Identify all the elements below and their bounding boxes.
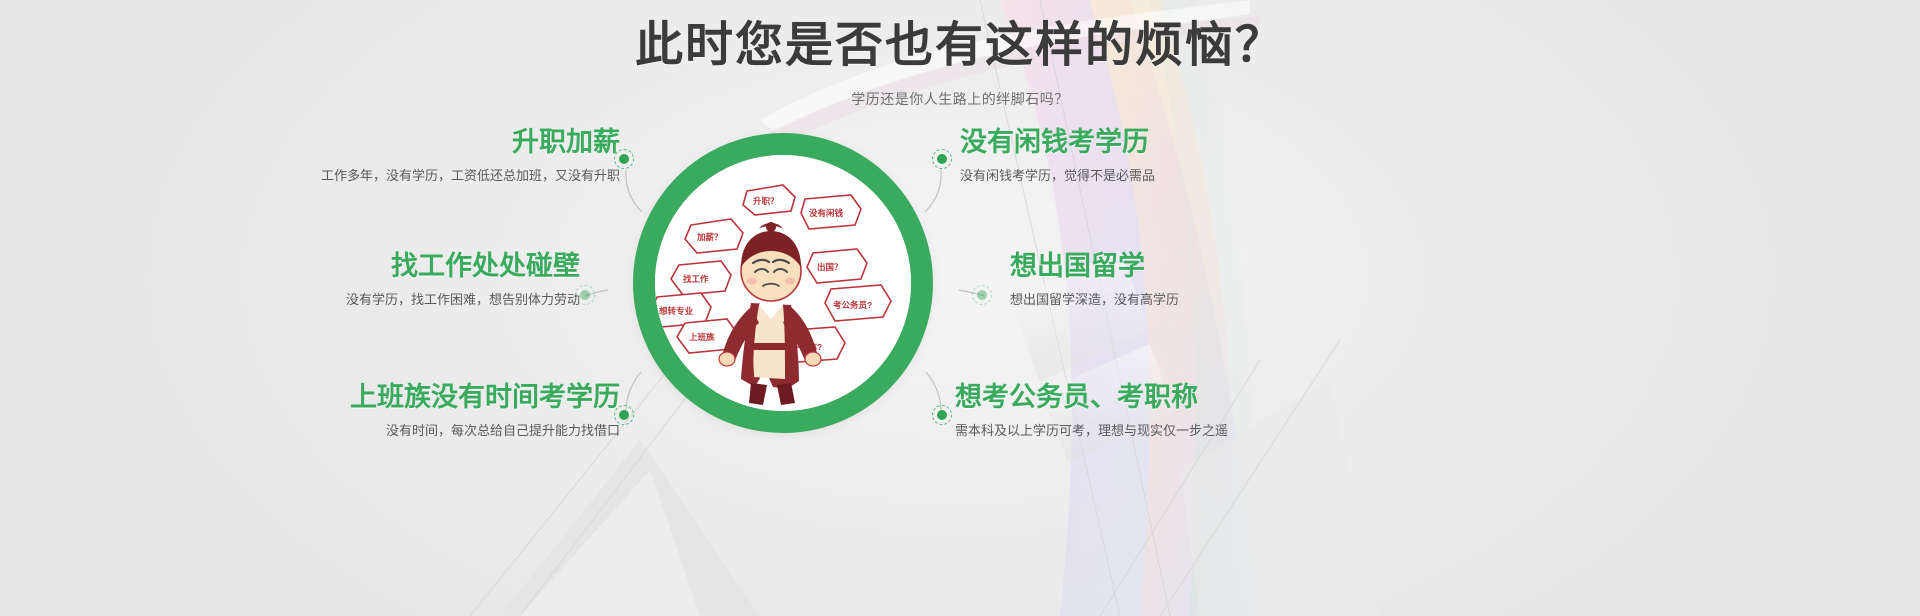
hero-banner: 此时您是否也有这样的烦恼？ 学历还是你人生路上的绊脚石吗？ .bb { fill…	[0, 0, 1920, 616]
page-subtitle: 学历还是你人生路上的绊脚石吗？	[0, 89, 1920, 109]
right-item-1-desc: 没有闲钱考学历，觉得不是必需品	[960, 165, 1155, 184]
svg-text:出国？: 出国？	[817, 262, 843, 272]
right-item-1[interactable]: 没有闲钱考学历 没有闲钱考学历，觉得不是必需品	[960, 128, 1155, 184]
svg-text:上班族: 上班族	[689, 332, 715, 342]
right-item-1-heading: 没有闲钱考学历	[960, 128, 1155, 158]
svg-text:升职？: 升职？	[753, 196, 779, 206]
left-item-3-heading: 上班族没有时间考学历	[350, 383, 620, 413]
right-bullet-dot-2	[972, 285, 992, 305]
left-item-3[interactable]: 上班族没有时间考学历 没有时间，每次总给自己提升能力找借口	[350, 383, 620, 439]
right-item-3-heading: 想考公务员、考职称	[955, 383, 1228, 413]
svg-text:没有闲钱: 没有闲钱	[809, 208, 844, 218]
svg-text:找工作: 找工作	[683, 274, 709, 284]
left-item-1-heading: 升职加薪	[321, 128, 620, 158]
left-item-3-desc: 没有时间，每次总给自己提升能力找借口	[350, 420, 620, 439]
worried-person-illustration: .bb { fill:#ffffff; stroke:#b9353a; stro…	[655, 155, 911, 411]
right-bullet-dot-1	[932, 149, 952, 169]
svg-text:想转专业: 想转专业	[658, 306, 694, 316]
left-item-2-desc: 没有学历，找工作困难，想告别体力劳动	[346, 289, 580, 308]
right-bullet-dot-3	[932, 405, 952, 425]
page-title: 此时您是否也有这样的烦恼？	[0, 16, 1920, 76]
right-item-2-heading: 想出国留学	[1010, 252, 1179, 282]
right-item-2[interactable]: 想出国留学 想出国留学深造，没有高学历	[1010, 252, 1179, 308]
left-item-1-desc: 工作多年，没有学历，工资低还总加班，又没有升职	[321, 165, 620, 184]
left-item-2-heading: 找工作处处碰壁	[346, 252, 580, 282]
illustration-area: .bb { fill:#ffffff; stroke:#b9353a; stro…	[655, 155, 911, 411]
svg-text:考公务员?: 考公务员?	[833, 300, 872, 310]
center-graphic: .bb { fill:#ffffff; stroke:#b9353a; stro…	[633, 133, 933, 433]
left-bullet-dot-1	[614, 149, 634, 169]
right-item-2-desc: 想出国留学深造，没有高学历	[1010, 289, 1179, 308]
left-bullet-dot-2	[575, 285, 595, 305]
left-item-2[interactable]: 找工作处处碰壁 没有学历，找工作困难，想告别体力劳动	[346, 252, 580, 308]
left-bullet-dot-3	[614, 405, 634, 425]
title-block: 此时您是否也有这样的烦恼？ 学历还是你人生路上的绊脚石吗？	[0, 16, 1920, 109]
left-item-1[interactable]: 升职加薪 工作多年，没有学历，工资低还总加班，又没有升职	[321, 128, 620, 184]
right-item-3[interactable]: 想考公务员、考职称 需本科及以上学历可考，理想与现实仅一步之遥	[955, 383, 1228, 439]
svg-text:加薪？: 加薪？	[696, 232, 723, 242]
right-item-3-desc: 需本科及以上学历可考，理想与现实仅一步之遥	[955, 420, 1228, 439]
